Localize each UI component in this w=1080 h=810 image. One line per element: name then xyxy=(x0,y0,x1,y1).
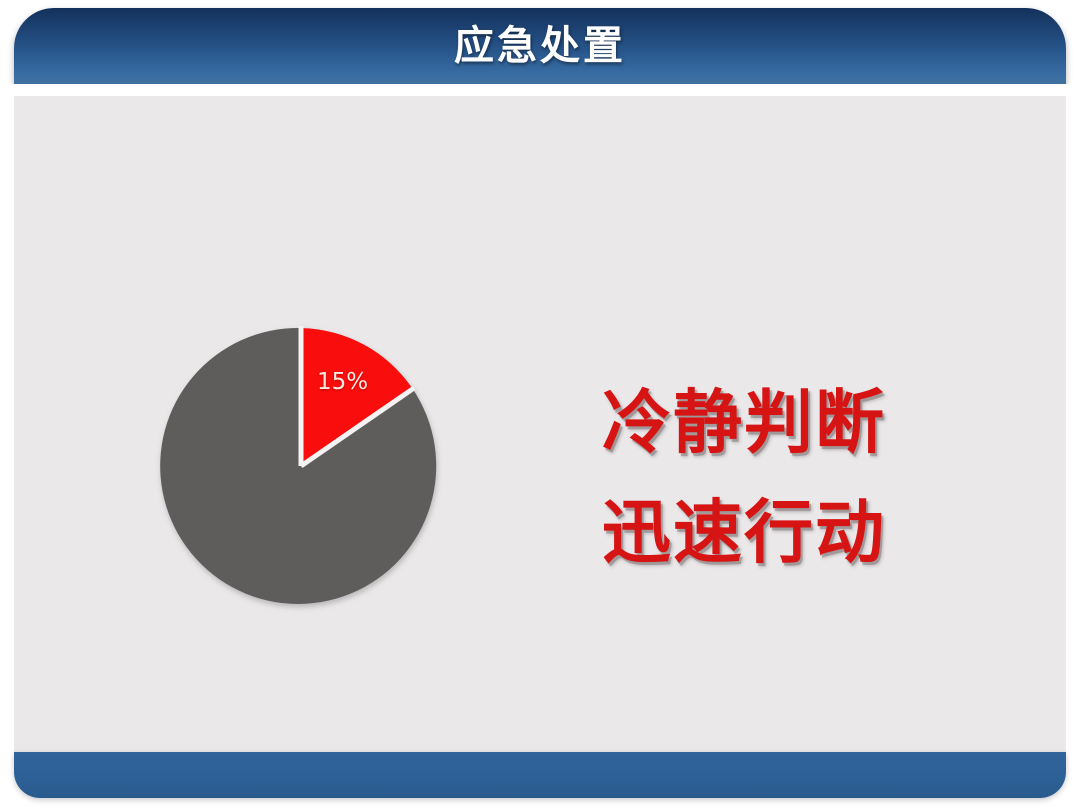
pie-slice-label: 15% xyxy=(317,371,368,394)
slide-footer-bar xyxy=(14,752,1066,798)
pie-chart xyxy=(163,328,439,604)
page-title: 应急处置 xyxy=(14,26,1066,66)
headline-block: 冷静判断 迅速行动 xyxy=(574,368,914,588)
slide-root: 应急处置 xyxy=(0,0,1080,810)
title-separator xyxy=(0,84,1080,96)
slide-body-panel: 15% 冷静判断 迅速行动 xyxy=(14,96,1066,752)
headline-line-1: 冷静判断 xyxy=(574,368,914,478)
headline-line-2: 迅速行动 xyxy=(574,478,914,588)
slide-title-bar: 应急处置 xyxy=(14,8,1066,84)
